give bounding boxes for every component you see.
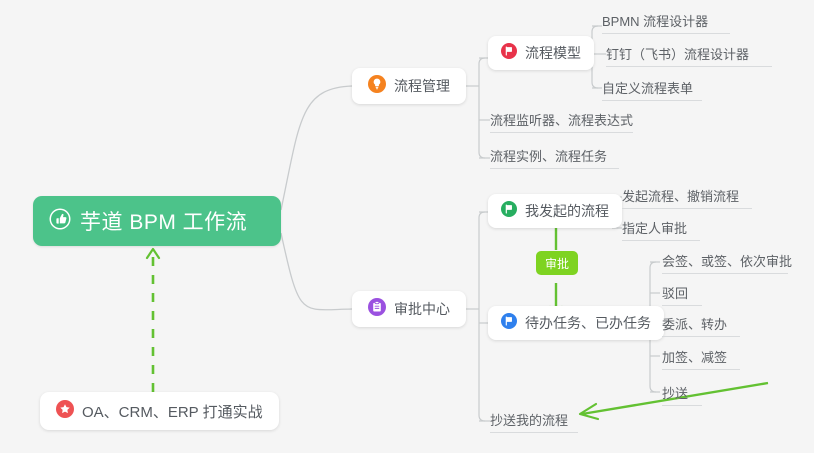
leaf-underline <box>602 33 730 34</box>
leaf-underline <box>662 305 702 306</box>
bottom-note[interactable]: OA、CRM、ERP 打通实战 <box>40 392 279 430</box>
thumbs-up-icon <box>49 208 71 235</box>
dashed-arrow-head <box>147 249 159 258</box>
leaf-add-remove-sign[interactable]: 加签、减签 <box>662 342 727 368</box>
link-root-to-approval-center <box>281 233 352 310</box>
leaf-process-instance[interactable]: 流程实例、流程任务 <box>490 141 607 167</box>
leaf-assigned-approver[interactable]: 指定人审批 <box>622 213 687 239</box>
branch-process-management-label: 流程管理 <box>394 76 450 96</box>
approve-badge[interactable]: 审批 <box>536 251 578 275</box>
link-root-to-process-management <box>281 86 352 210</box>
lightbulb-icon <box>368 75 386 98</box>
leaf-cc-my-processes-label: 抄送我的流程 <box>490 414 568 431</box>
leaf-start-cancel-process-label: 发起流程、撤销流程 <box>622 190 739 207</box>
star-icon <box>56 400 74 423</box>
leaf-start-cancel-process[interactable]: 发起流程、撤销流程 <box>622 181 739 207</box>
flag-icon <box>501 313 517 334</box>
leaf-underline <box>662 273 788 274</box>
leaf-underline <box>622 208 752 209</box>
leaf-process-instance-label: 流程实例、流程任务 <box>490 150 607 167</box>
leaf-delegate-transfer-label: 委派、转办 <box>662 318 727 335</box>
link-process-management-spine <box>479 58 485 158</box>
node-process-model-label: 流程模型 <box>525 43 581 63</box>
branch-process-management[interactable]: 流程管理 <box>352 68 466 104</box>
leaf-countersign-label: 会签、或签、依次审批 <box>662 255 792 272</box>
leaf-underline <box>662 405 702 406</box>
leaf-cc[interactable]: 抄送 <box>662 378 688 404</box>
leaf-underline <box>490 168 619 169</box>
leaf-countersign[interactable]: 会签、或签、依次审批 <box>662 246 792 272</box>
leaf-process-listener-label: 流程监听器、流程表达式 <box>490 114 633 131</box>
leaf-reject-label: 驳回 <box>662 287 688 304</box>
link-approval-center-spine <box>479 212 485 421</box>
branch-approval-center[interactable]: 审批中心 <box>352 291 466 327</box>
leaf-assigned-approver-label: 指定人审批 <box>622 222 687 239</box>
leaf-delegate-transfer[interactable]: 委派、转办 <box>662 309 727 335</box>
leaf-cc-my-processes[interactable]: 抄送我的流程 <box>490 405 568 431</box>
leaf-bpmn-designer-label: BPMN 流程设计器 <box>602 15 708 32</box>
leaf-cc-label: 抄送 <box>662 387 688 404</box>
leaf-dingtalk-designer[interactable]: 钉钉（飞书）流程设计器 <box>606 39 749 65</box>
leaf-dingtalk-designer-label: 钉钉（飞书）流程设计器 <box>606 48 749 65</box>
leaf-underline <box>606 66 772 67</box>
leaf-underline <box>622 240 700 241</box>
leaf-underline <box>662 336 740 337</box>
node-my-processes-label: 我发起的流程 <box>525 201 609 221</box>
approve-badge-label: 审批 <box>545 255 569 272</box>
leaf-underline <box>490 432 578 433</box>
bottom-note-label: OA、CRM、ERP 打通实战 <box>82 401 263 422</box>
leaf-bpmn-designer[interactable]: BPMN 流程设计器 <box>602 6 708 32</box>
leaf-underline <box>490 132 633 133</box>
leaf-custom-form-label: 自定义流程表单 <box>602 82 693 99</box>
node-process-model[interactable]: 流程模型 <box>488 36 594 70</box>
node-todo-done-tasks-label: 待办任务、已办任务 <box>525 313 651 333</box>
flag-icon <box>501 201 517 222</box>
arrow-cc-to-cc-processes-head <box>580 404 598 419</box>
root-label: 芋道 BPM 工作流 <box>80 206 247 236</box>
node-todo-done-tasks[interactable]: 待办任务、已办任务 <box>488 306 664 340</box>
leaf-add-remove-sign-label: 加签、减签 <box>662 351 727 368</box>
leaf-underline <box>602 100 702 101</box>
mindmap-canvas: 芋道 BPM 工作流 流程管理 流程模型 BPMN 流程设计器 钉钉（飞书）流程… <box>0 0 814 453</box>
leaf-reject[interactable]: 驳回 <box>662 278 688 304</box>
flag-icon <box>501 43 517 64</box>
clipboard-icon <box>368 298 386 321</box>
leaf-underline <box>662 369 740 370</box>
root-node[interactable]: 芋道 BPM 工作流 <box>33 196 281 246</box>
branch-approval-center-label: 审批中心 <box>394 299 450 319</box>
leaf-custom-form[interactable]: 自定义流程表单 <box>602 73 693 99</box>
leaf-process-listener[interactable]: 流程监听器、流程表达式 <box>490 105 633 131</box>
node-my-processes[interactable]: 我发起的流程 <box>488 194 622 228</box>
